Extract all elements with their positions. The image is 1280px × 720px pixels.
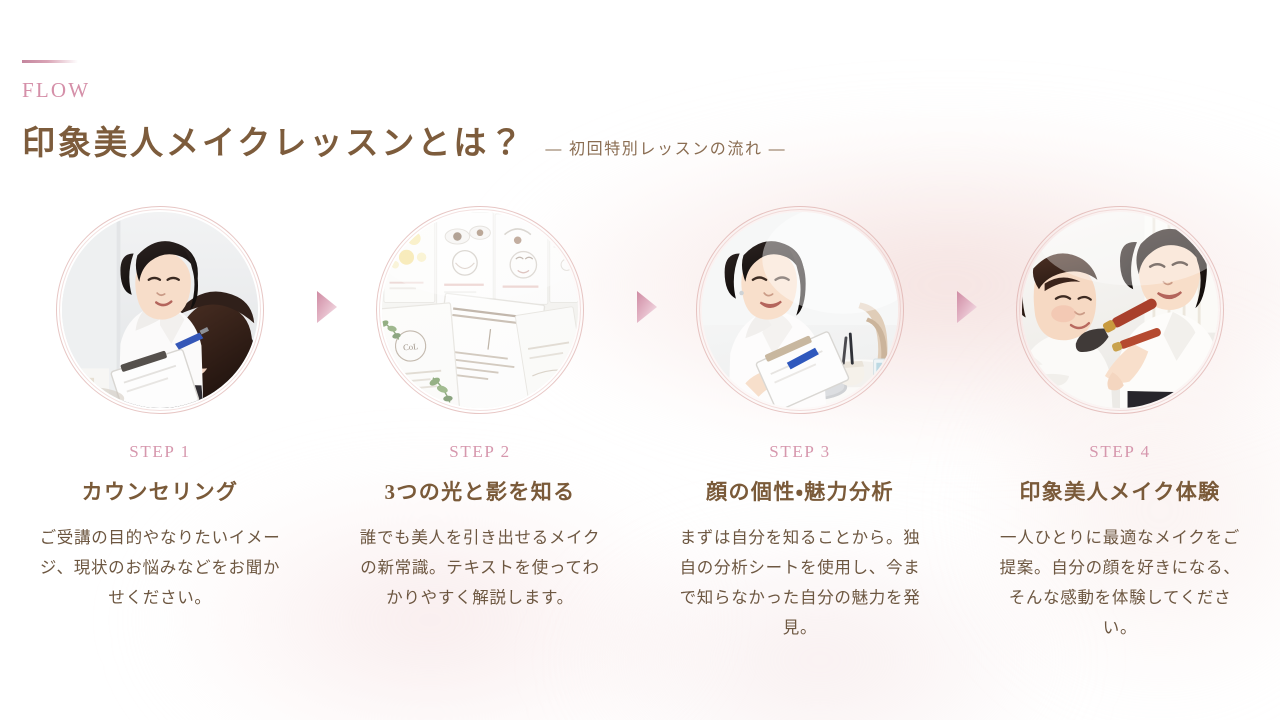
step-heading-1: カウンセリング <box>82 482 239 503</box>
photo-textbook-icon: CoL <box>382 212 578 408</box>
step-number-4: STEP 4 <box>1089 443 1150 460</box>
steps-list: STEP 1 カウンセリング ご受講の目的やなりたいイメージ、現状のお悩みなどを… <box>0 206 1280 643</box>
section-eyebrow: FLOW <box>22 80 90 101</box>
photo-ring-2: CoL <box>376 206 584 414</box>
step-heading-3: 顔の個性・魅力分析 <box>706 482 894 503</box>
step-number-3: STEP 3 <box>769 443 830 460</box>
arrow-step1-to-step2-icon <box>316 290 338 324</box>
arrow-step3-to-step4-icon <box>956 290 978 324</box>
photo-makeup-icon <box>1022 212 1218 408</box>
photo-ring-4 <box>1016 206 1224 414</box>
step-card-2[interactable]: CoL <box>320 206 640 613</box>
flow-section: FLOW 印象美人メイクレッスンとは？ ― 初回特別レッスンの流れ ― <box>0 0 1280 720</box>
page-title: 印象美人メイクレッスンとは？ <box>22 126 525 162</box>
title-row: 印象美人メイクレッスンとは？ ― 初回特別レッスンの流れ ― <box>22 126 786 162</box>
step-number-2: STEP 2 <box>449 443 510 460</box>
step-body-2: 誰でも美人を引き出せるメイクの新常識。テキストを使ってわかりやすく解説します。 <box>359 523 601 613</box>
page-subtitle: ― 初回特別レッスンの流れ ― <box>545 141 786 161</box>
photo-ring-3 <box>696 206 904 414</box>
photo-analysis-icon <box>702 212 898 408</box>
photo-counseling-icon <box>62 212 258 408</box>
photo-ring-1 <box>56 206 264 414</box>
step-body-3: まずは自分を知ることから。独自の分析シートを使用し、今まで知らなかった自分の魅力… <box>679 523 921 643</box>
step-heading-2: 3つの光と影を知る <box>384 482 575 503</box>
step-card-3[interactable]: STEP 3 顔の個性・魅力分析 まずは自分を知ることから。独自の分析シートを使… <box>640 206 960 643</box>
step-number-1: STEP 1 <box>129 443 190 460</box>
step-body-4: 一人ひとりに最適なメイクをご提案。自分の顔を好きになる、そんな感動を体験してくだ… <box>999 523 1241 643</box>
step-card-1[interactable]: STEP 1 カウンセリング ご受講の目的やなりたいイメージ、現状のお悩みなどを… <box>0 206 320 613</box>
section-header: FLOW <box>22 60 90 101</box>
step-heading-4: 印象美人メイク体験 <box>1019 482 1220 503</box>
step-card-4[interactable]: STEP 4 印象美人メイク体験 一人ひとりに最適なメイクをご提案。自分の顔を好… <box>960 206 1280 643</box>
decorative-rule <box>22 60 78 63</box>
arrow-step2-to-step3-icon <box>636 290 658 324</box>
step-body-1: ご受講の目的やなりたいイメージ、現状のお悩みなどをお聞かせください。 <box>39 523 281 613</box>
